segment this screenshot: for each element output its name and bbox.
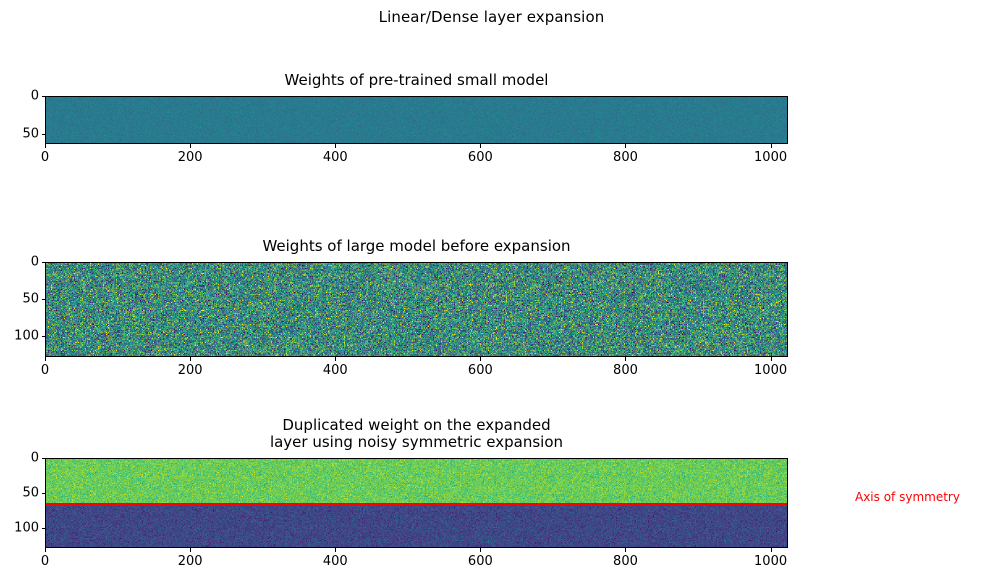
x-tick-mark (45, 357, 46, 361)
x-tick-label: 600 (468, 363, 493, 378)
x-tick-label: 600 (468, 150, 493, 165)
heatmap-image (45, 262, 788, 357)
y-tick-label: 100 (14, 521, 39, 536)
y-tick-mark (42, 299, 46, 300)
subplot-title: Weights of pre-trained small model (0, 72, 983, 89)
subplot-weights-pretrained-small-model: Weights of pre-trained small model (45, 96, 788, 144)
x-tick-mark (480, 357, 481, 361)
x-tick-mark (480, 548, 481, 552)
y-tick-mark (42, 262, 46, 263)
y-tick-label: 0 (31, 451, 39, 466)
y-tick-mark (42, 493, 46, 494)
x-tick-label: 200 (178, 150, 203, 165)
heatmap-image (45, 458, 788, 548)
x-tick-mark (190, 144, 191, 148)
x-tick-label: 200 (178, 554, 203, 569)
x-tick-mark (45, 144, 46, 148)
figure-suptitle: Linear/Dense layer expansion (0, 8, 983, 26)
y-tick-label: 50 (22, 292, 39, 307)
x-tick-label: 0 (41, 363, 49, 378)
subplot-title: Weights of large model before expansion (0, 238, 983, 255)
axis-of-symmetry-line (46, 503, 787, 506)
x-tick-mark (771, 144, 772, 148)
x-tick-mark (480, 144, 481, 148)
x-tick-label: 600 (468, 554, 493, 569)
y-tick-label: 100 (14, 329, 39, 344)
heatmap-canvas (46, 97, 787, 143)
x-tick-mark (335, 144, 336, 148)
x-tick-mark (45, 548, 46, 552)
y-tick-label: 0 (31, 89, 39, 104)
x-tick-mark (771, 548, 772, 552)
x-tick-label: 0 (41, 150, 49, 165)
heatmap-image (45, 96, 788, 144)
x-tick-label: 1000 (754, 363, 787, 378)
x-tick-mark (335, 357, 336, 361)
subplot-title: Duplicated weight on the expanded layer … (0, 417, 983, 451)
y-tick-mark (42, 336, 46, 337)
x-tick-label: 400 (323, 554, 348, 569)
x-tick-label: 800 (613, 150, 638, 165)
x-tick-label: 1000 (754, 554, 787, 569)
x-tick-label: 0 (41, 554, 49, 569)
x-tick-label: 400 (323, 150, 348, 165)
subplot-duplicated-weight-expanded-layer: Duplicated weight on the expanded layer … (45, 458, 788, 548)
x-tick-label: 1000 (754, 150, 787, 165)
x-tick-label: 800 (613, 554, 638, 569)
y-tick-mark (42, 134, 46, 135)
matplotlib-figure: Linear/Dense layer expansion Weights of … (0, 0, 983, 584)
y-tick-label: 0 (31, 255, 39, 270)
heatmap-canvas (46, 263, 787, 356)
x-tick-label: 800 (613, 363, 638, 378)
y-tick-label: 50 (22, 126, 39, 141)
x-tick-mark (625, 548, 626, 552)
axis-of-symmetry-label: Axis of symmetry (855, 490, 960, 504)
y-tick-mark (42, 96, 46, 97)
x-tick-mark (625, 357, 626, 361)
y-tick-mark (42, 458, 46, 459)
subplot-weights-large-model-before-expansion: Weights of large model before expansion (45, 262, 788, 357)
y-tick-mark (42, 528, 46, 529)
y-tick-label: 50 (22, 486, 39, 501)
x-tick-label: 400 (323, 363, 348, 378)
x-tick-mark (625, 144, 626, 148)
x-tick-label: 200 (178, 363, 203, 378)
x-tick-mark (771, 357, 772, 361)
x-tick-mark (335, 548, 336, 552)
x-tick-mark (190, 548, 191, 552)
x-tick-mark (190, 357, 191, 361)
